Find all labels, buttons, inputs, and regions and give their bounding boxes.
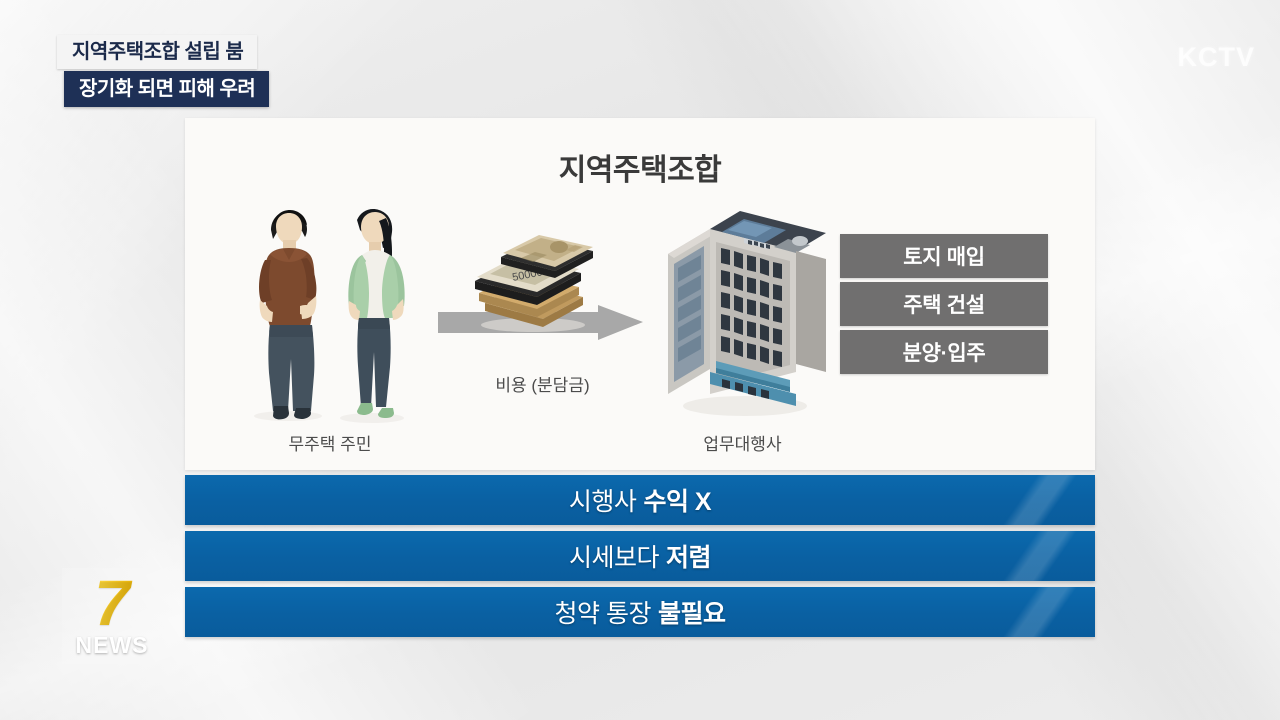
step-box-sale-moveIn: 분양·입주	[840, 330, 1048, 374]
building-illustration	[650, 198, 835, 423]
station-logo-kctv: KCTV	[1178, 42, 1256, 73]
step-box-housing-construction: 주택 건설	[840, 282, 1048, 326]
process-step-list: 토지 매입 주택 건설 분양·입주	[840, 234, 1050, 378]
benefit-text-bold: 저렴	[666, 538, 711, 574]
benefit-bar-text: 시세보다 저렴	[185, 531, 1095, 581]
benefit-text-normal: 청약 통장	[555, 594, 651, 630]
card-title: 지역주택조합	[185, 145, 1095, 189]
program-bug-7news: 7 NEWS	[62, 568, 162, 664]
headline-line-1: 지역주택조합 설립 붐	[57, 35, 257, 69]
people-icon	[240, 194, 420, 424]
office-building-icon	[650, 198, 835, 423]
benefit-text-bold: 수익 X	[643, 482, 711, 518]
headline-banner: 지역주택조합 설립 붐 장기화 되면 피해 우려	[57, 35, 269, 107]
label-residents: 무주택 주민	[205, 430, 455, 455]
bug-word-news: NEWS	[62, 632, 162, 659]
bug-number-seven: 7	[62, 570, 162, 636]
label-cost: 비용 (분담금)	[435, 371, 650, 396]
step-box-land-purchase: 토지 매입	[840, 234, 1048, 278]
benefit-bar-list: 시행사 수익 X 시세보다 저렴 청약 통장 불필요	[185, 475, 1095, 643]
label-agency: 업무대행사	[635, 430, 850, 455]
benefit-text-bold: 불필요	[658, 594, 726, 630]
benefit-bar-no-developer-profit: 시행사 수익 X	[185, 475, 1095, 525]
benefit-bar-cheaper-than-market: 시세보다 저렴	[185, 531, 1095, 581]
benefit-bar-text: 청약 통장 불필요	[185, 587, 1095, 637]
headline-line-2: 장기화 되면 피해 우려	[64, 71, 269, 107]
benefit-bar-no-subscription-account: 청약 통장 불필요	[185, 587, 1095, 637]
benefit-bar-text: 시행사 수익 X	[185, 475, 1095, 525]
money-illustration: 50000	[455, 233, 600, 333]
benefit-text-normal: 시세보다	[569, 538, 659, 574]
benefit-text-normal: 시행사	[569, 482, 637, 518]
infographic-card: 지역주택조합	[185, 118, 1095, 470]
cash-stack-icon: 50000	[455, 233, 600, 333]
residents-illustration	[240, 194, 420, 424]
